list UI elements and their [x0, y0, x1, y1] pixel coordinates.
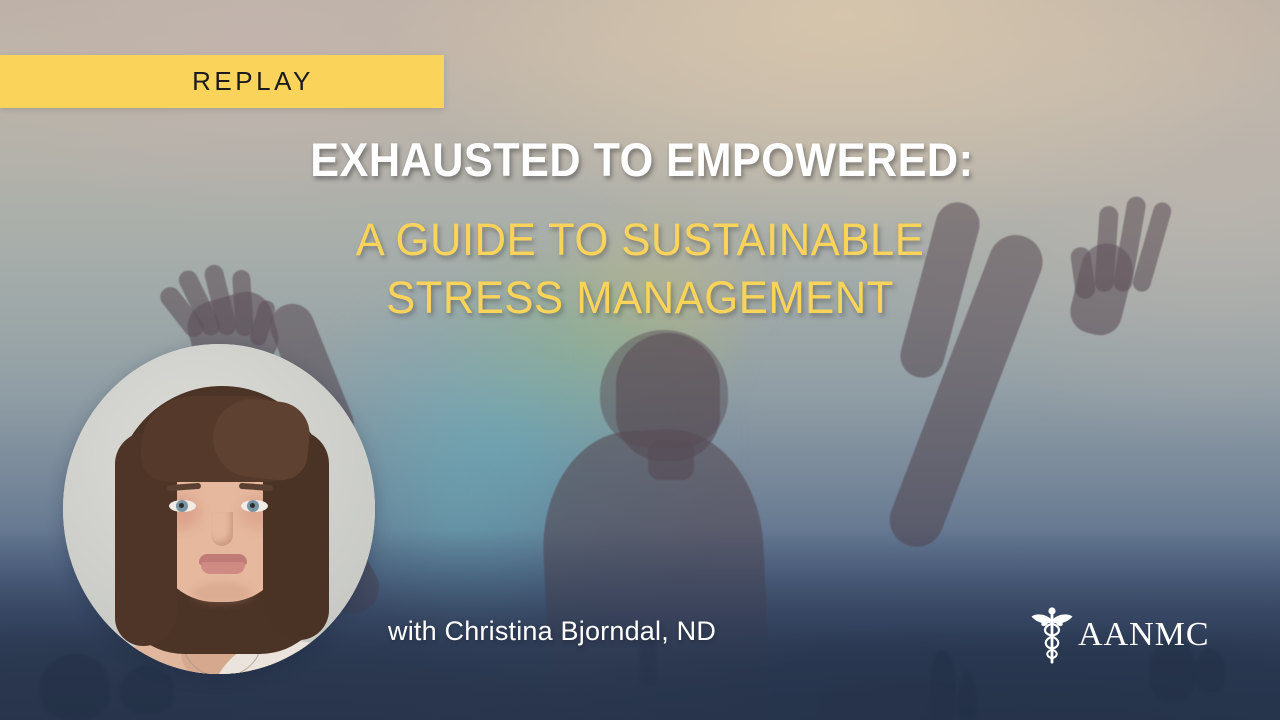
- presenter-credit: with Christina Bjorndal, ND: [388, 616, 716, 647]
- aanmc-logo: AANMC: [1030, 604, 1210, 666]
- subtitle-line-1: A GUIDE TO SUSTAINABLE: [19, 214, 1261, 266]
- subtitle-line-2: STRESS MANAGEMENT: [19, 272, 1261, 324]
- replay-badge: REPLAY: [0, 55, 444, 108]
- replay-badge-label: REPLAY: [130, 66, 314, 97]
- avatar-lower-lip: [201, 562, 245, 574]
- avatar-pupil: [250, 503, 255, 508]
- caduceus-icon: [1030, 604, 1074, 666]
- aanmc-logo-text: AANMC: [1078, 618, 1210, 652]
- video-thumbnail: REPLAY EXHAUSTED TO EMPOWERED: A GUIDE T…: [0, 0, 1280, 720]
- avatar-nose: [211, 512, 233, 546]
- page-title: EXHAUSTED TO EMPOWERED:: [51, 132, 1229, 187]
- presenter-avatar: [63, 344, 375, 674]
- avatar-chin: [191, 582, 253, 604]
- avatar-pupil: [179, 503, 184, 508]
